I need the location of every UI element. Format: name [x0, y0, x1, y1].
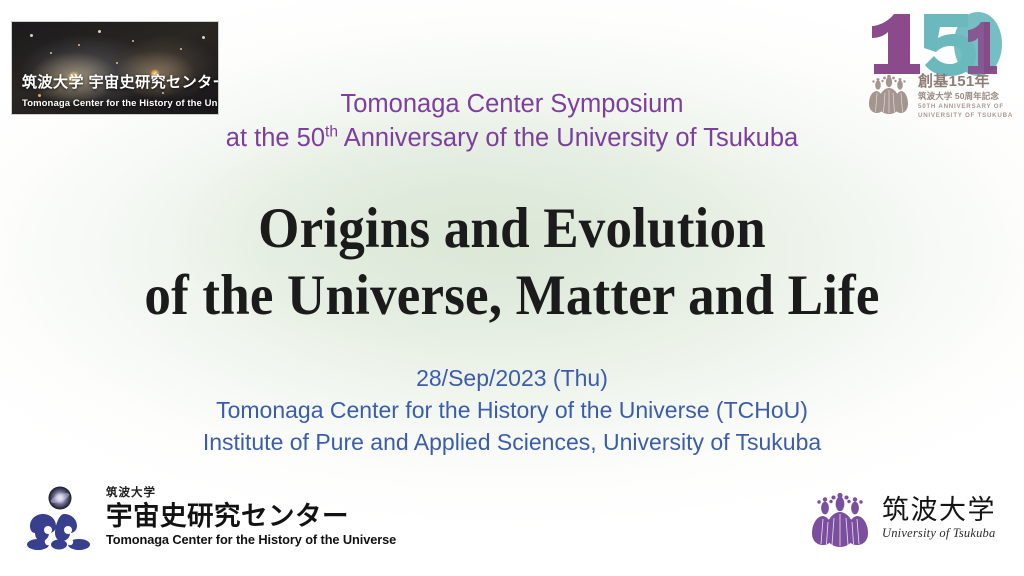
university-name-jp: 筑波大学 [882, 496, 996, 526]
page-title: Origins and Evolution of the Universe, M… [36, 196, 988, 329]
heading-ordinal-suffix: th [325, 123, 338, 140]
title-line-2: of the Universe, Matter and Life [36, 263, 988, 330]
heading-line-2-before: at the 50 [226, 124, 325, 152]
tsukuba-paulownia-crest-icon [808, 492, 872, 550]
university-of-tsukuba-text: 筑波大学 University of Tsukuba [882, 496, 996, 540]
heading-line-1: Tomonaga Center Symposium [0, 88, 1024, 122]
anniversary-numerals-151-icon [864, 10, 1012, 78]
heading-line-2: at the 50th Anniversary of the Universit… [0, 122, 1024, 156]
tchou-university-name: 筑波大学 [106, 488, 396, 500]
tchou-center-name-jp: 宇宙史研究センター [106, 502, 396, 532]
university-name-en: University of Tsukuba [882, 527, 996, 541]
event-institute: Institute of Pure and Applied Sciences, … [0, 426, 1024, 458]
event-center: Tomonaga Center for the History of the U… [0, 394, 1024, 426]
tchou-logo: 筑波大学 宇宙史研究センター Tomonaga Center for the H… [24, 482, 396, 558]
symposium-heading: Tomonaga Center Symposium at the 50th An… [0, 88, 1024, 156]
presentation-slide: 筑波大学 宇宙史研究センター Tomonaga Center for the H… [0, 0, 1024, 576]
tchou-center-name-en: Tomonaga Center for the History of the U… [106, 533, 396, 547]
heading-line-2-after: Anniversary of the University of Tsukuba [338, 124, 798, 152]
tchou-atom-galaxy-icon [24, 486, 96, 550]
event-date: 28/Sep/2023 (Thu) [0, 362, 1024, 394]
title-line-1: Origins and Evolution [36, 196, 988, 263]
university-of-tsukuba-logo: 筑波大学 University of Tsukuba [808, 492, 1000, 554]
tchou-logo-text: 筑波大学 宇宙史研究センター Tomonaga Center for the H… [106, 488, 396, 547]
event-details: 28/Sep/2023 (Thu) Tomonaga Center for th… [0, 362, 1024, 459]
